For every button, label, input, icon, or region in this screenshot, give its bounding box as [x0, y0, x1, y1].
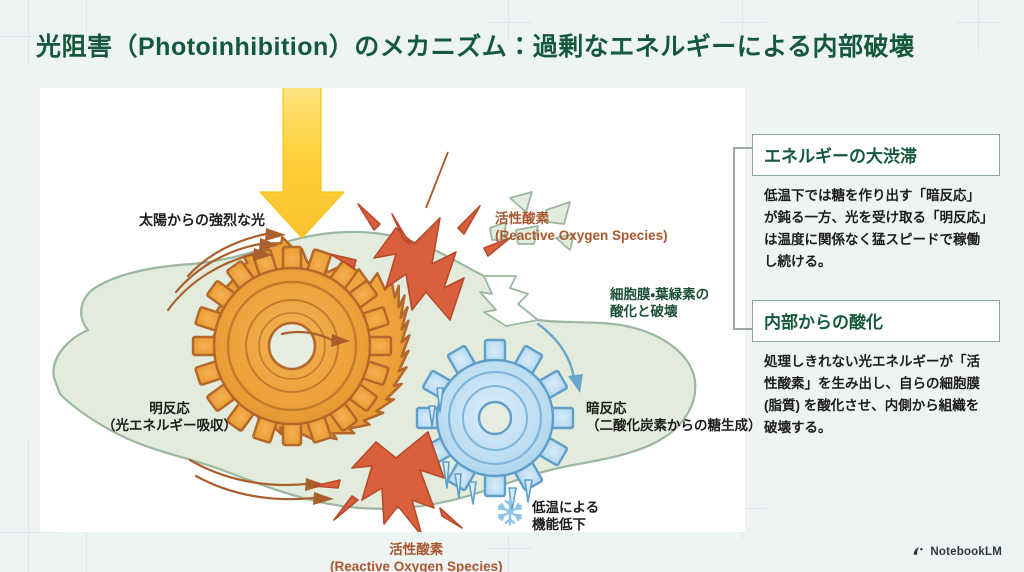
connector-line-vertical — [733, 147, 735, 329]
snowflake-icon — [495, 497, 525, 527]
page-title: 光阻害（Photoinhibition）のメカニズム：過剰なエネルギーによる内部… — [0, 18, 1024, 72]
footer-watermark: NotebookLM — [912, 545, 1002, 558]
down-arrow-icon — [260, 88, 344, 238]
label-dark-reaction: 暗反応 （二酸化炭素からの糖生成） — [586, 400, 762, 435]
ros-leader-line — [426, 152, 448, 208]
label-ros-top-jp: 活性酸素 — [495, 210, 668, 227]
footer-brand-text: NotebookLM — [930, 546, 1002, 558]
notebooklm-logo-icon — [912, 545, 925, 558]
panel-energy-title: エネルギーの大渋滞 — [764, 142, 988, 167]
diagram-canvas: 太陽からの強烈な光 活性酸素 (Reactive Oxygen Species)… — [40, 88, 745, 532]
label-low-temperature: 低温による 機能低下 — [532, 499, 599, 534]
connector-line-energy — [733, 147, 752, 149]
panel-energy-body: 低温下では糖を作り出す「暗反応」が鈍る一方、光を受け取る「明反応」は温度に関係な… — [752, 176, 1000, 272]
panel-oxidation-header: 内部からの酸化 — [752, 300, 1000, 342]
connector-line-oxidation — [733, 328, 752, 330]
label-reactive-oxygen-top: 活性酸素 (Reactive Oxygen Species) — [495, 210, 668, 245]
panel-oxidation-body: 処理しきれない光エネルギーが「活性酸素」を生み出し、自らの細胞膜 (脂質) を酸… — [752, 342, 1000, 438]
label-ros-top-en: (Reactive Oxygen Species) — [495, 227, 668, 244]
page-title-text: 光阻害（Photoinhibition）のメカニズム：過剰なエネルギーによる内部… — [36, 27, 915, 63]
panel-oxidation-title: 内部からの酸化 — [764, 308, 988, 333]
label-sunlight: 太陽からの強烈な光 — [139, 212, 265, 230]
panel-oxidation: 内部からの酸化 処理しきれない光エネルギーが「活性酸素」を生み出し、自らの細胞膜… — [752, 300, 1000, 438]
label-ros-bottom-jp: 活性酸素 — [330, 541, 503, 558]
label-light-reaction: 明反応 （光エネルギー吸収） — [102, 400, 237, 435]
panel-energy: エネルギーの大渋滞 低温下では糖を作り出す「暗反応」が鈍る一方、光を受け取る「明… — [752, 134, 1000, 272]
label-ros-bottom-en: (Reactive Oxygen Species) — [330, 558, 503, 572]
slide-root: 光阻害（Photoinhibition）のメカニズム：過剰なエネルギーによる内部… — [0, 0, 1024, 572]
panel-energy-header: エネルギーの大渋滞 — [752, 134, 1000, 176]
label-reactive-oxygen-bottom: 活性酸素 (Reactive Oxygen Species) — [330, 541, 503, 572]
label-membrane-damage: 細胞膜・葉緑素の 酸化と破壊 — [610, 286, 709, 321]
side-panels: エネルギーの大渋滞 低温下では糖を作り出す「暗反応」が鈍る一方、光を受け取る「明… — [752, 88, 1000, 459]
